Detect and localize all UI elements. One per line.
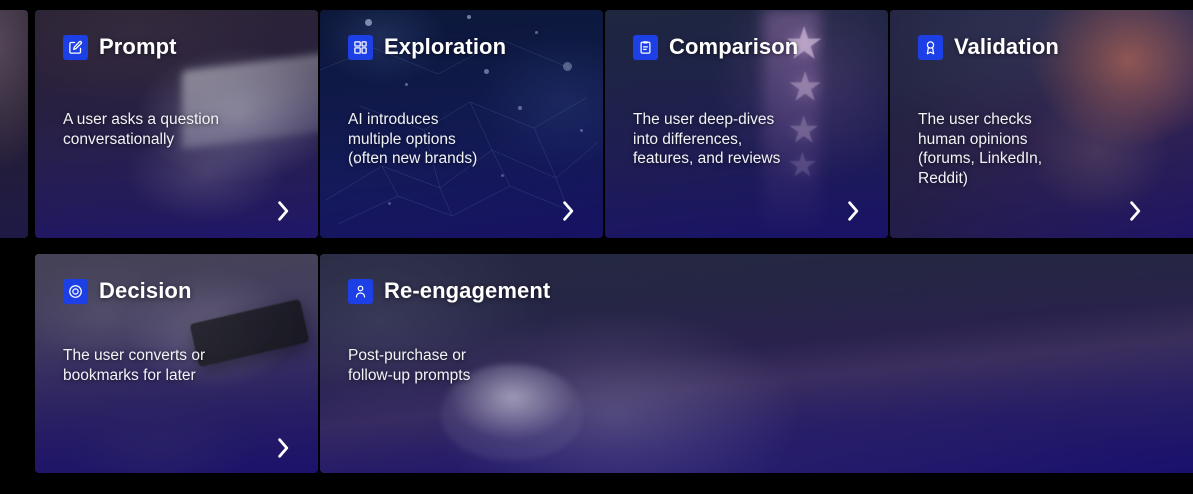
card-description: AI introduces multiple options (often ne… xyxy=(348,110,577,169)
card-description: The user converts or bookmarks for later xyxy=(63,346,292,385)
card-description: The user deep-dives into differences, fe… xyxy=(633,110,862,169)
clipboard-icon xyxy=(633,35,658,60)
stage-card-exploration[interactable]: Exploration AI introduces multiple optio… xyxy=(320,10,603,238)
card-title: Re-engagement xyxy=(384,278,550,304)
stage-card-partial-clipped[interactable] xyxy=(0,10,28,238)
edit-square-icon xyxy=(63,35,88,60)
stage-card-validation[interactable]: Validation The user checks human opinion… xyxy=(890,10,1193,238)
target-check-icon xyxy=(63,279,88,304)
card-title: Decision xyxy=(99,278,192,304)
card-title: Prompt xyxy=(99,34,177,60)
card-header: Comparison xyxy=(633,34,860,60)
card-header: Exploration xyxy=(348,34,575,60)
stage-card-comparison[interactable]: ★ ★ ★ ★ Comparison The user deep-dives i… xyxy=(605,10,888,238)
card-title: Comparison xyxy=(669,34,798,60)
stage-card-reengagement[interactable]: Re-engagement Post-purchase or follow-up… xyxy=(320,254,1193,473)
card-background-image xyxy=(0,10,28,238)
stage-card-decision[interactable]: Decision The user converts or bookmarks … xyxy=(35,254,318,473)
card-description: Post-purchase or follow-up prompts xyxy=(348,346,678,385)
chevron-right-icon[interactable] xyxy=(557,200,579,222)
card-description: A user asks a question conversationally xyxy=(63,110,292,149)
journey-stages-canvas: { "theme": { "canvas_background": "#0000… xyxy=(0,0,1193,494)
user-person-icon xyxy=(348,279,373,304)
award-badge-icon xyxy=(918,35,943,60)
card-content: Decision The user converts or bookmarks … xyxy=(35,254,318,473)
card-content: Prompt A user asks a question conversati… xyxy=(35,10,318,238)
card-title: Validation xyxy=(954,34,1059,60)
card-content: Validation The user checks human opinion… xyxy=(890,10,1193,238)
card-header: Decision xyxy=(63,278,290,304)
card-header: Validation xyxy=(918,34,1193,60)
chevron-right-icon[interactable] xyxy=(272,200,294,222)
card-content: Exploration AI introduces multiple optio… xyxy=(320,10,603,238)
color-overlay xyxy=(0,10,28,238)
card-content: Re-engagement Post-purchase or follow-up… xyxy=(320,254,1193,473)
chevron-right-icon[interactable] xyxy=(1124,200,1146,222)
card-description: The user checks human opinions (forums, … xyxy=(918,110,1130,188)
card-header: Re-engagement xyxy=(348,278,1165,304)
card-title: Exploration xyxy=(384,34,506,60)
grid-layout-icon xyxy=(348,35,373,60)
chevron-right-icon[interactable] xyxy=(272,437,294,459)
card-header: Prompt xyxy=(63,34,290,60)
card-content: Comparison The user deep-dives into diff… xyxy=(605,10,888,238)
stage-card-prompt[interactable]: Prompt A user asks a question conversati… xyxy=(35,10,318,238)
chevron-right-icon[interactable] xyxy=(842,200,864,222)
